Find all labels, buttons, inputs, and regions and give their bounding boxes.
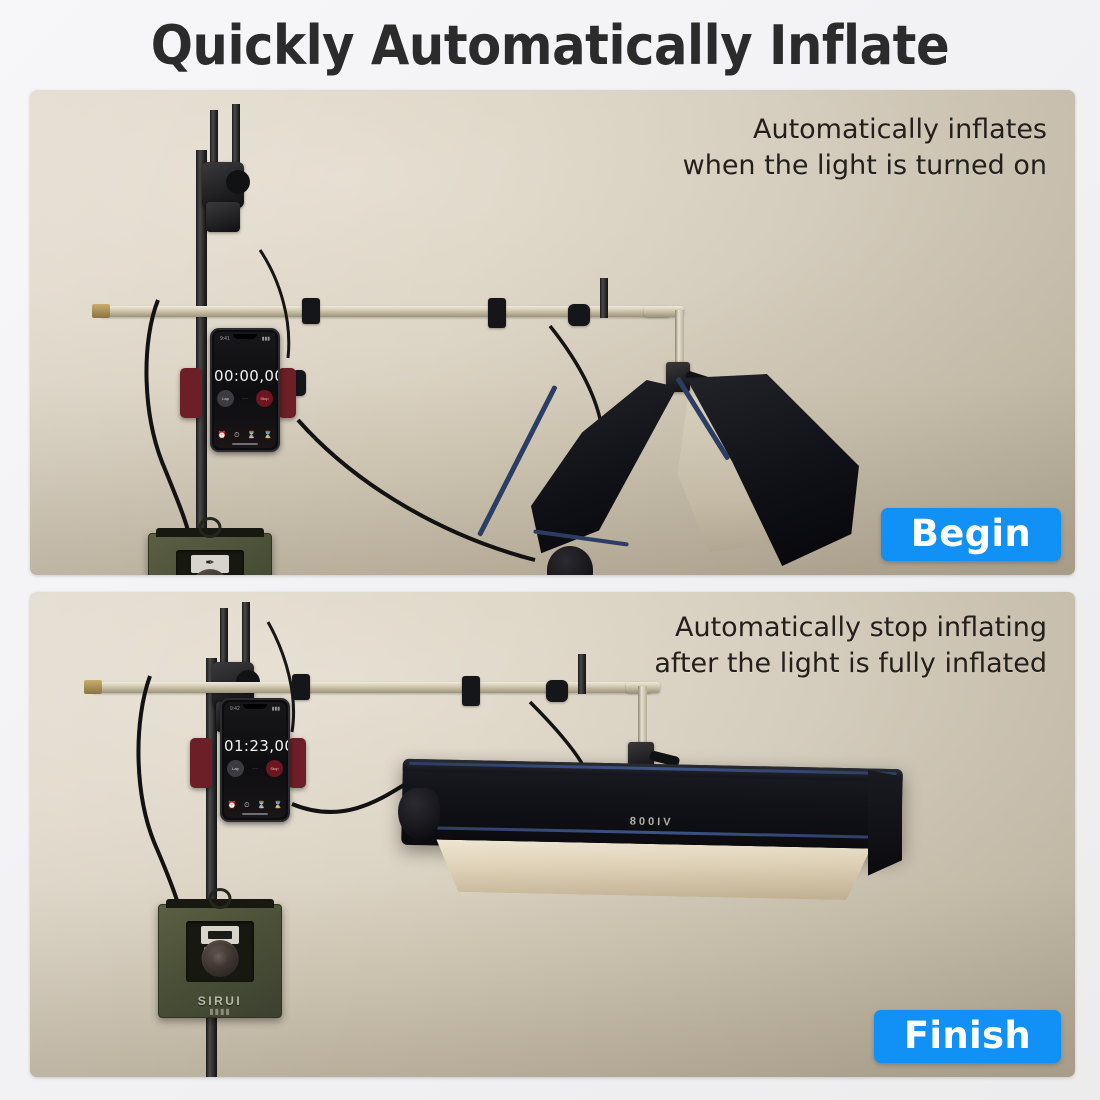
tab-stopwatch[interactable]: ⏳ bbox=[247, 432, 256, 439]
hanging-hook-icon bbox=[199, 517, 222, 538]
home-indicator-2 bbox=[242, 813, 268, 815]
tab-alarm-2[interactable]: ⏲ bbox=[244, 802, 249, 809]
inflated-status-icon bbox=[208, 931, 232, 939]
control-box-finish[interactable]: SIRUI ▮▮▮▮ bbox=[158, 904, 282, 1018]
phone-status-bar: 9:41 ▮▮▮ bbox=[220, 336, 270, 342]
stopwatch-icon: ⏳ bbox=[247, 432, 256, 439]
photo-begin: Automatically inflates when the light is… bbox=[30, 90, 1075, 575]
phone-screen-begin: 9:41 ▮▮▮ 00:00,00 Lap ··· Stop ⏰ bbox=[214, 332, 276, 448]
softbox-wing-left bbox=[531, 380, 701, 555]
status-icons: ▮▮▮ bbox=[262, 336, 270, 342]
panel-finish: 800IV Automatically stop inflating after… bbox=[30, 592, 1075, 1077]
stopwatch-value-begin: 00:00,00 bbox=[214, 367, 276, 385]
caption-begin-line1: Automatically inflates bbox=[683, 112, 1047, 148]
panel-begin: Automatically inflates when the light is… bbox=[30, 90, 1075, 575]
world-clock-icon: ⏰ bbox=[218, 432, 227, 439]
softbox-deflated bbox=[525, 368, 855, 575]
world-clock-icon-2: ⏰ bbox=[228, 802, 237, 809]
stopwatch-icon-2: ⏳ bbox=[257, 802, 266, 809]
home-indicator bbox=[232, 443, 258, 445]
timer-icon-2: ⌛ bbox=[273, 802, 282, 809]
power-cable bbox=[146, 300, 192, 550]
alarm-icon-2: ⏲ bbox=[244, 802, 249, 809]
more-button[interactable]: ··· bbox=[240, 394, 250, 404]
inflate-status-icon: ✒ bbox=[205, 558, 214, 569]
timer-icon: ⌛ bbox=[263, 432, 272, 439]
phone-status-bar-2: 9:42 ▮▮▮ bbox=[230, 706, 280, 712]
control-box-faceplate: ✒ bbox=[176, 550, 244, 575]
phone-finish[interactable]: 9:42 ▮▮▮ 01:23,00 Lap ··· Stop ⏰ bbox=[220, 698, 290, 822]
stopwatch-controls-begin: Lap ··· Stop bbox=[214, 390, 276, 407]
control-box-begin[interactable]: ✒ SIRUI ▮▮▮▮ bbox=[148, 533, 272, 575]
stop-button[interactable]: Stop bbox=[256, 390, 273, 407]
tab-timer-2[interactable]: ⌛ bbox=[273, 802, 282, 809]
tab-alarm[interactable]: ⏲ bbox=[234, 432, 239, 439]
stopwatch-value-finish: 01:23,00 bbox=[224, 737, 286, 755]
badge-begin: Begin bbox=[881, 508, 1061, 561]
stop-button-2[interactable]: Stop bbox=[266, 760, 283, 777]
lap-button[interactable]: Lap bbox=[217, 390, 234, 407]
control-box-faceplate-2 bbox=[186, 921, 254, 983]
caption-finish-line2: after the light is fully inflated bbox=[654, 646, 1047, 682]
phone-screen-finish: 9:42 ▮▮▮ 01:23,00 Lap ··· Stop ⏰ bbox=[224, 702, 286, 818]
power-cable-2 bbox=[138, 676, 184, 932]
tab-world-2[interactable]: ⏰ bbox=[228, 802, 237, 809]
page-title: Quickly Automatically Inflate bbox=[44, 14, 1056, 77]
control-dial-2[interactable] bbox=[202, 940, 239, 977]
softbox-air-inlet bbox=[547, 546, 593, 575]
brand-sublabel-finish: ▮▮▮▮ bbox=[159, 1007, 281, 1016]
more-button-2[interactable]: ··· bbox=[250, 764, 260, 774]
status-icons-2: ▮▮▮ bbox=[272, 706, 280, 712]
caption-finish: Automatically stop inflating after the l… bbox=[654, 610, 1047, 681]
caption-finish-line1: Automatically stop inflating bbox=[654, 610, 1047, 646]
photo-finish: 800IV Automatically stop inflating after… bbox=[30, 592, 1075, 1077]
phone-begin[interactable]: 9:41 ▮▮▮ 00:00,00 Lap ··· Stop ⏰ bbox=[210, 328, 280, 452]
caption-begin: Automatically inflates when the light is… bbox=[683, 112, 1047, 183]
status-time-2: 9:42 bbox=[230, 706, 240, 712]
softbox-air-inlet-2 bbox=[398, 788, 440, 840]
lap-button-2[interactable]: Lap bbox=[227, 760, 244, 777]
softbox-diffuser-panel bbox=[422, 839, 885, 901]
alarm-icon: ⏲ bbox=[234, 432, 239, 439]
tab-timer[interactable]: ⌛ bbox=[263, 432, 272, 439]
phone-tabbar-begin: ⏰ ⏲ ⏳ ⌛ bbox=[214, 432, 276, 439]
stopwatch-controls-finish: Lap ··· Stop bbox=[224, 760, 286, 777]
status-time: 9:41 bbox=[220, 336, 230, 342]
tab-stopwatch-2[interactable]: ⏳ bbox=[257, 802, 266, 809]
badge-finish: Finish bbox=[874, 1010, 1061, 1063]
phone-tabbar-finish: ⏰ ⏲ ⏳ ⌛ bbox=[224, 802, 286, 809]
caption-begin-line2: when the light is turned on bbox=[683, 148, 1047, 184]
tab-world[interactable]: ⏰ bbox=[218, 432, 227, 439]
product-feature-page: Quickly Automatically Inflate bbox=[0, 0, 1100, 1100]
hanging-hook-icon-2 bbox=[209, 888, 232, 909]
